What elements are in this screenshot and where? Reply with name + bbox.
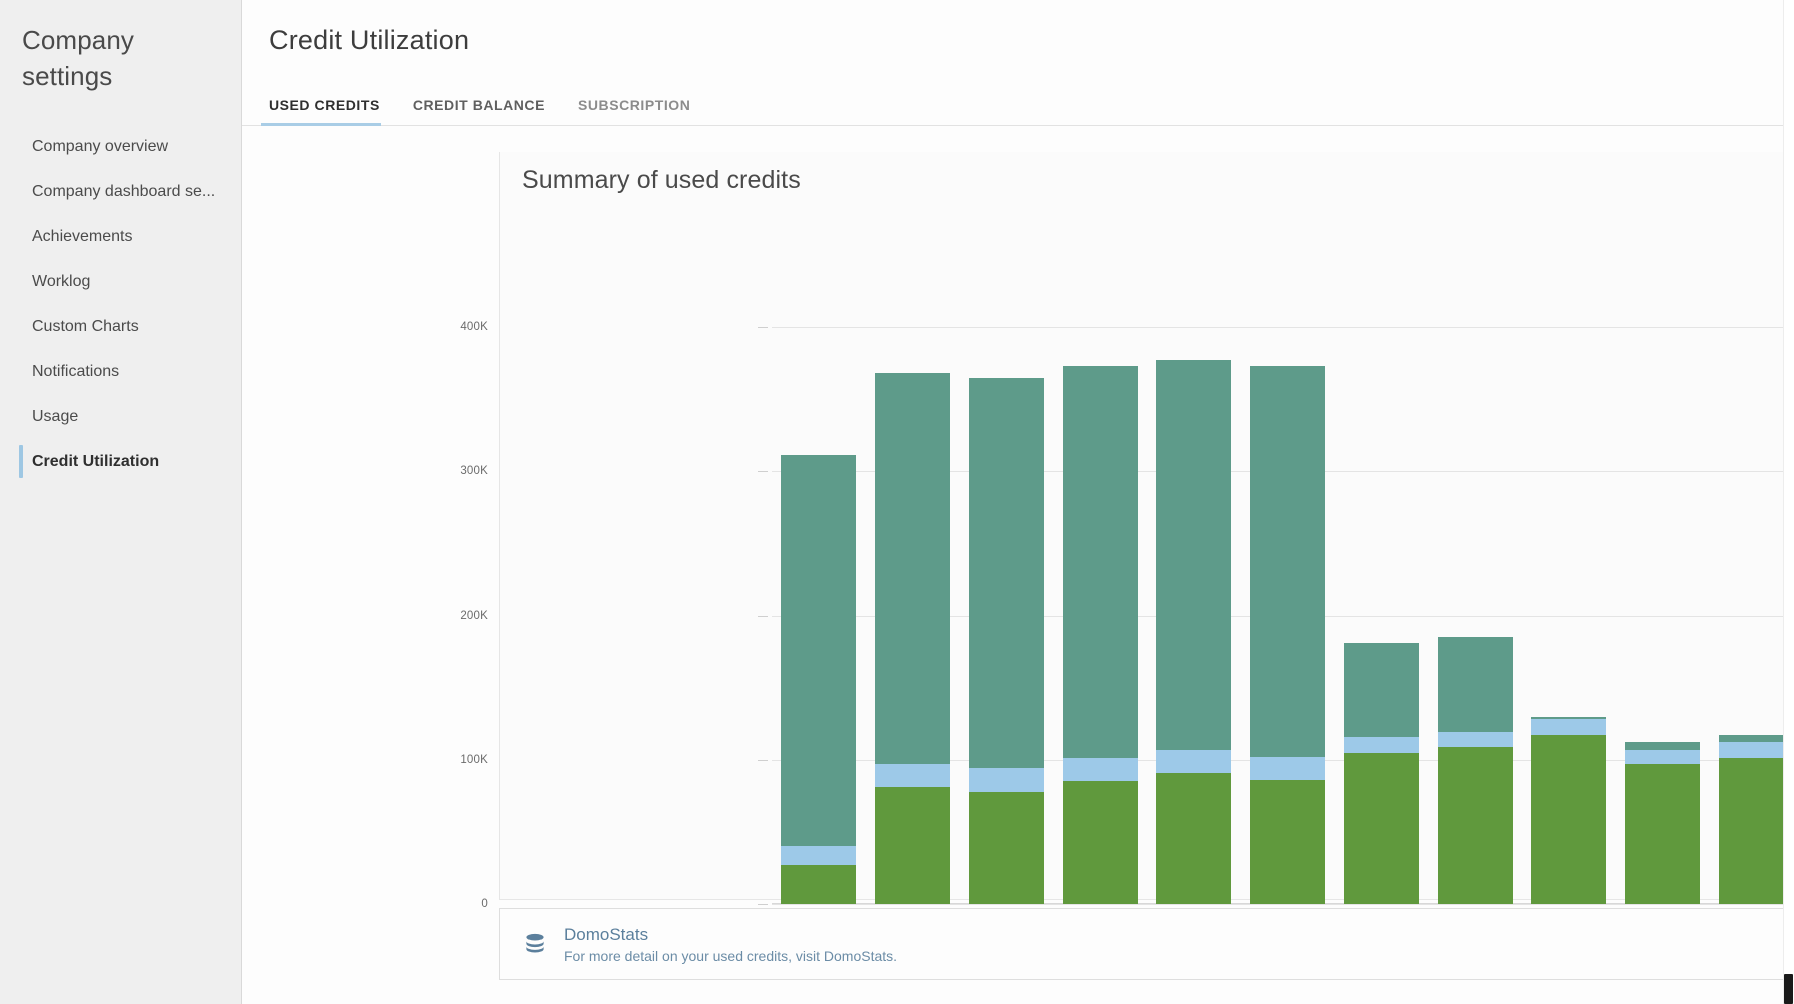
bar-segment-general[interactable] [1063, 781, 1138, 904]
sidebar-item-worklog[interactable]: Worklog [0, 259, 241, 304]
tab-subscription[interactable]: SUBSCRIPTION [578, 97, 703, 125]
domostats-card[interactable]: DomoStats For more detail on your used c… [499, 908, 1794, 980]
bar-segment-materialized_rows[interactable] [875, 764, 950, 787]
bar-segment-virtual_rows[interactable] [1438, 637, 1513, 732]
bar-segment-materialized_rows[interactable] [1156, 750, 1231, 773]
bar-segment-general[interactable] [1344, 753, 1419, 904]
bar-segment-materialized_rows[interactable] [1625, 750, 1700, 764]
bar-segment-virtual_rows[interactable] [1156, 360, 1231, 749]
bar-2023-01-01[interactable] [1156, 360, 1231, 904]
sidebar-nav: Company overviewCompany dashboard se...A… [0, 124, 241, 484]
bar-segment-general[interactable] [1438, 747, 1513, 904]
sidebar-item-label: Custom Charts [32, 318, 139, 336]
bar-2023-06-01[interactable] [1625, 742, 1700, 904]
database-icon [522, 931, 548, 957]
y-axis-tick-mark [758, 471, 768, 472]
sidebar-item-company-overview[interactable]: Company overview [0, 124, 241, 169]
sidebar-item-label: Company dashboard se... [32, 183, 215, 201]
y-axis-tick-label: 400K [428, 321, 488, 333]
bar-segment-materialized_rows[interactable] [969, 768, 1044, 791]
tab-bar: USED CREDITSCREDIT BALANCESUBSCRIPTION [242, 84, 1794, 126]
sidebar-item-label: Notifications [32, 363, 119, 381]
domostats-description: For more detail on your used credits, vi… [564, 948, 897, 964]
y-axis-tick-label: 0 [428, 898, 488, 910]
bar-2023-03-01[interactable] [1344, 643, 1419, 904]
bar-2022-12-01[interactable] [1063, 366, 1138, 904]
bar-2023-02-01[interactable] [1250, 366, 1325, 904]
bar-segment-general[interactable] [969, 792, 1044, 905]
y-axis-tick-label: 100K [428, 754, 488, 766]
sidebar-item-usage[interactable]: Usage [0, 394, 241, 439]
bar-segment-virtual_rows[interactable] [875, 373, 950, 764]
main-content: Credit Utilization USED CREDITSCREDIT BA… [242, 0, 1794, 1004]
y-axis-tick-mark [758, 904, 768, 905]
vertical-scrollbar[interactable] [1783, 0, 1794, 1004]
sidebar-item-credit-utilization[interactable]: Credit Utilization [0, 439, 241, 484]
bar-segment-virtual_rows[interactable] [1063, 366, 1138, 758]
used-credits-card: Summary of used credits 12 Months Ending… [499, 152, 1794, 900]
card-title: Summary of used credits [522, 166, 801, 195]
app-root: Company settings Company overviewCompany… [0, 0, 1794, 1004]
page-title: Credit Utilization [242, 0, 1794, 56]
sidebar-item-label: Company overview [32, 138, 168, 156]
domostats-text: DomoStats For more detail on your used c… [564, 925, 897, 964]
sidebar-item-label: Achievements [32, 228, 133, 246]
bar-2022-11-01[interactable] [969, 378, 1044, 904]
bar-segment-materialized_rows[interactable] [1344, 737, 1419, 753]
bar-segment-general[interactable] [1156, 773, 1231, 904]
bar-segment-virtual_rows[interactable] [1344, 643, 1419, 737]
gridline [772, 904, 1794, 905]
bar-segment-materialized_rows[interactable] [1531, 719, 1606, 735]
domostats-link[interactable]: DomoStats [564, 925, 897, 945]
sidebar-item-label: Credit Utilization [32, 453, 159, 471]
bar-segment-general[interactable] [1625, 764, 1700, 904]
sidebar-item-label: Usage [32, 408, 78, 426]
sidebar-item-company-dashboard-se[interactable]: Company dashboard se... [0, 169, 241, 214]
bar-segment-materialized_rows[interactable] [781, 846, 856, 865]
sidebar-item-achievements[interactable]: Achievements [0, 214, 241, 259]
credits-chart: 0100K200K300K400K2022-09-012022-10-01202… [500, 232, 1794, 892]
scrollbar-thumb[interactable] [1784, 974, 1793, 1004]
chart-plot-area: 0100K200K300K400K2022-09-012022-10-01202… [772, 327, 1794, 904]
bar-segment-materialized_rows[interactable] [1063, 758, 1138, 781]
bar-2022-09-01[interactable] [781, 455, 856, 904]
tab-credit-balance[interactable]: CREDIT BALANCE [413, 97, 558, 125]
bar-segment-general[interactable] [875, 787, 950, 904]
gridline [772, 327, 1794, 328]
bar-segment-materialized_rows[interactable] [1438, 732, 1513, 746]
card-header: Summary of used credits 12 Months Ending… [500, 152, 1794, 219]
tab-used-credits[interactable]: USED CREDITS [269, 97, 393, 125]
bar-segment-virtual_rows[interactable] [1250, 366, 1325, 757]
bar-segment-general[interactable] [1250, 780, 1325, 904]
y-axis-tick-mark [758, 616, 768, 617]
sidebar-item-custom-charts[interactable]: Custom Charts [0, 304, 241, 349]
sidebar-title: Company settings [0, 0, 170, 94]
y-axis-tick-label: 200K [428, 610, 488, 622]
bar-segment-virtual_rows[interactable] [781, 455, 856, 846]
bar-2022-10-01[interactable] [875, 373, 950, 904]
y-axis-tick-mark [758, 760, 768, 761]
bar-segment-materialized_rows[interactable] [1250, 757, 1325, 780]
y-axis-tick-mark [758, 327, 768, 328]
y-axis-tick-label: 300K [428, 465, 488, 477]
bar-2023-05-01[interactable] [1531, 717, 1606, 905]
sidebar-item-notifications[interactable]: Notifications [0, 349, 241, 394]
bar-2023-04-01[interactable] [1438, 637, 1513, 904]
bar-segment-general[interactable] [1531, 735, 1606, 904]
bar-segment-virtual_rows[interactable] [1625, 742, 1700, 749]
sidebar: Company settings Company overviewCompany… [0, 0, 242, 1004]
bar-segment-virtual_rows[interactable] [969, 378, 1044, 769]
sidebar-item-label: Worklog [32, 273, 90, 291]
bar-segment-general[interactable] [781, 865, 856, 904]
